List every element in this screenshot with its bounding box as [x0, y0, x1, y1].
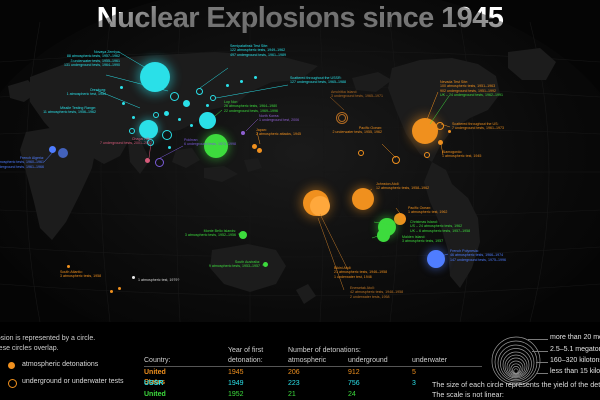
scale-label-15kt: less than 15 kilotons: [550, 368, 600, 375]
table-cell-atmospheric: 206: [288, 368, 300, 378]
table-cell-country: USSR: [144, 379, 163, 389]
label-pokhran: Pokhran: 6 underground tests, 1974, 1998: [184, 138, 236, 147]
table-cell-underwater: 3: [412, 379, 416, 389]
legend-note-line1: Each explosion is represented by a circl…: [0, 334, 95, 344]
label-south-australia: South Australia: 9 atmospheric tests, 19…: [172, 260, 260, 269]
label-malden-island: Malden Island: 3 atmospheric tests, 1957: [402, 235, 443, 244]
key-dot-atmospheric: [8, 362, 15, 369]
table-cell-year: 1945: [228, 368, 244, 378]
table-cell-country: United Kingdom: [144, 390, 174, 400]
label-french-algeria: French Algeria: 4 atmospheric tests, 196…: [0, 156, 44, 169]
label-enewetak-atoll: Enewetak Atoll: 42 atmospheric tests, 19…: [350, 286, 403, 299]
table-cell-underground: 756: [348, 379, 360, 389]
label-amchitka: Amchitka Island: 3 underground tests, 19…: [331, 90, 383, 99]
world-map: Novaya Zemlya: 88 atmospheric tests, 195…: [0, 22, 600, 322]
label-pacific-ocean-south: Pacific Ocean: 1 atmospheric test, 1962: [408, 206, 447, 215]
label-chagai-hills: Chagai Hills: 7 underground tests, 2001–…: [60, 137, 152, 146]
key-label-atmospheric: atmospheric detonations: [22, 361, 98, 368]
table-header-year-l1: Year of first: [228, 346, 263, 356]
scale-label-160kt: 160–320 kilotons: [550, 357, 600, 364]
table-subheader-underground: underground: [348, 356, 388, 366]
label-south-atlantic: South Atlantic: 3 atmospheric tests, 195…: [60, 270, 101, 279]
key-label-underground: underground or underwater tests: [22, 378, 124, 385]
label-north-korea: North Korea: 1 underground test, 2006: [259, 114, 299, 123]
scale-label-2-5mt: 2.5–5.1 megatons: [550, 346, 600, 353]
table-header-country: Country:: [144, 356, 170, 366]
table-subheader-underwater: underwater: [412, 356, 447, 366]
infographic-root: Nuclear Explosions since 1945: [0, 0, 600, 400]
table-cell-year: 1949: [228, 379, 244, 389]
label-scattered-us: Scattered throughout the US: 7 undergrou…: [452, 122, 504, 131]
label-missile-testing-range: Missile Testing Range: 11 atmospheric te…: [6, 106, 96, 115]
table-cell-underground: 24: [348, 390, 356, 400]
label-johnston-atoll: Johnston Atoll: 12 atmospheric tests, 19…: [376, 182, 429, 191]
label-semipalatinsk: Semipalatinsk Test Site: 122 atmospheric…: [230, 44, 286, 57]
label-pacific-ocean-west: Pacific Ocean: 2 underwater tests, 1955,…: [300, 126, 382, 135]
table-cell-underground: 912: [348, 368, 360, 378]
label-scattered-ussr: Scattered throughout the USSR: 127 under…: [290, 76, 346, 85]
label-monte-bello: Monte Bello Islands: 3 atmospheric tests…: [150, 229, 236, 238]
label-lop-nor: Lop Nor: 26 atmospheric tests, 1964–1980…: [224, 100, 278, 113]
table-cell-year: 1952: [228, 390, 244, 400]
label-japan: Japan: 2 atmospheric attacks, 1945: [256, 128, 301, 137]
table-rule: [144, 366, 482, 367]
label-orenburg: Orenburg: 1 atmospheric test, 1954: [20, 88, 106, 97]
label-nevada: Nevada Test Site: 100 atmospheric tests,…: [440, 80, 503, 98]
key-dot-underground: [8, 379, 17, 388]
concentric-scale-circles: [490, 336, 542, 386]
label-french-polynesia: French Polynesia: 46 atmospheric tests, …: [450, 249, 506, 262]
label-alamogordo: Alamogordo: 1 atmospheric test, 1945: [442, 150, 481, 159]
table-header-year-l2: detonation:: [228, 356, 263, 366]
table-cell-atmospheric: 223: [288, 379, 300, 389]
label-indian-ocean: 1 atmospheric test, 1979?: [138, 278, 179, 282]
scale-caption-line2: The scale is not linear:: [432, 390, 504, 399]
table-cell-atmospheric: 21: [288, 390, 296, 400]
legend-note-line2: Many of these circles overlap.: [0, 344, 59, 354]
table-subheader-atmospheric: atmospheric: [288, 356, 326, 366]
table-header-detonations: Number of detonations:: [288, 346, 361, 356]
label-novaya-zemlya: Novaya Zemlya: 88 atmospheric tests, 195…: [5, 50, 120, 68]
scale-label-20mt: more than 20 megatons: [550, 334, 600, 341]
scale-caption-line1: The size of each circle represents the y…: [432, 380, 600, 389]
table-cell-underwater: 5: [412, 368, 416, 378]
label-christmas-island: Christmas Island: US – 24 atmospheric te…: [410, 220, 470, 233]
label-bikini-atoll: Bikini Atoll: 21 atmospheric tests, 1946…: [334, 266, 387, 279]
legend-panel: Each explosion is represented by a circl…: [0, 322, 600, 400]
